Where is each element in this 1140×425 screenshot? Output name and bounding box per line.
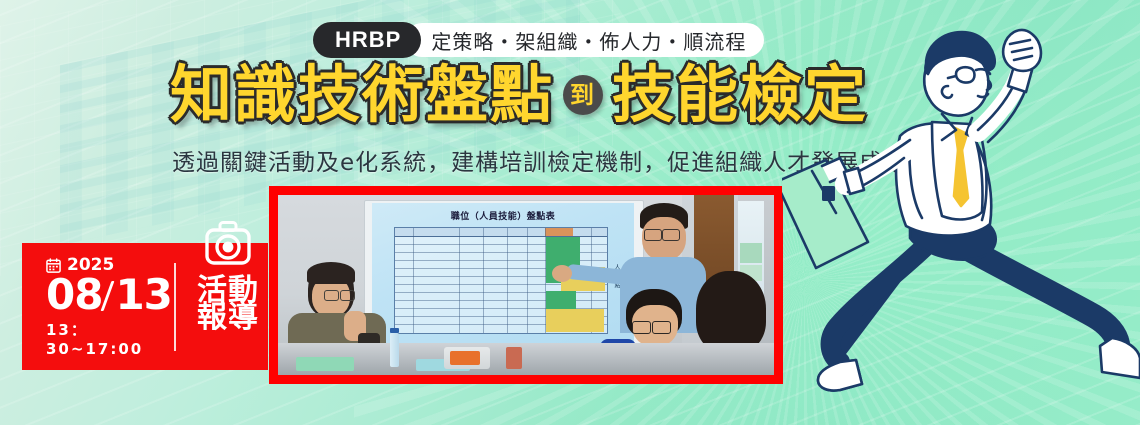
projection-cell-green-1 (546, 237, 580, 267)
photo-desk-item-mug (506, 347, 522, 369)
report-line-2: 報導 (188, 303, 268, 334)
tagline-row: HRBP 定策略・架組織・佈人力・順流程 (313, 22, 764, 58)
headline-part-1: 知識技術盤點 (170, 64, 554, 126)
date-details: 2025 08 13 13：30~17:00 (22, 255, 172, 357)
event-banner: HRBP 定策略・架組織・佈人力・順流程 知識技術盤點 到 技能檢定 透過關鍵活… (0, 0, 1140, 425)
event-photo-frame: 職位（人員技能）盤點表 (269, 186, 783, 384)
headline-connector-badge: 到 (563, 75, 603, 115)
projection-cell-green-3 (546, 291, 576, 309)
tagline-pill: 定策略・架組織・佈人力・順流程 (405, 23, 764, 57)
event-month: 08 (46, 273, 102, 317)
camera-icon (205, 221, 251, 265)
projection-header-accent-1 (545, 228, 559, 236)
page-title: 知識技術盤點 到 技能檢定 (170, 64, 868, 126)
event-time: 13：30~17:00 (46, 319, 172, 358)
date-separator (101, 281, 115, 311)
photo-window-pane-1 (740, 243, 762, 263)
photo-desk-item-bottle (390, 333, 399, 367)
projection-table: 人力盤點 (394, 227, 608, 334)
hrbp-badge-label: HRBP (335, 27, 401, 53)
hrbp-badge: HRBP (313, 22, 421, 58)
tagline-pill-label: 定策略・架組織・佈人力・順流程 (431, 26, 746, 55)
running-businessman-illustration (782, 0, 1140, 425)
photo-desk-item-snack-inner (450, 351, 480, 365)
report-label-block: 活動 報導 (188, 280, 268, 333)
photo-desk-item-pad-green (296, 357, 354, 371)
event-day-row: 08 13 (46, 273, 172, 317)
event-date-card: 2025 08 13 13：30~17:00 活動 報導 (22, 243, 268, 370)
photo-desk-item-bottle-cap (390, 328, 399, 333)
event-day: 13 (115, 273, 171, 317)
projection-header-accent-2 (559, 228, 573, 236)
card-divider (174, 263, 176, 351)
event-photo: 職位（人員技能）盤點表 (278, 195, 774, 375)
